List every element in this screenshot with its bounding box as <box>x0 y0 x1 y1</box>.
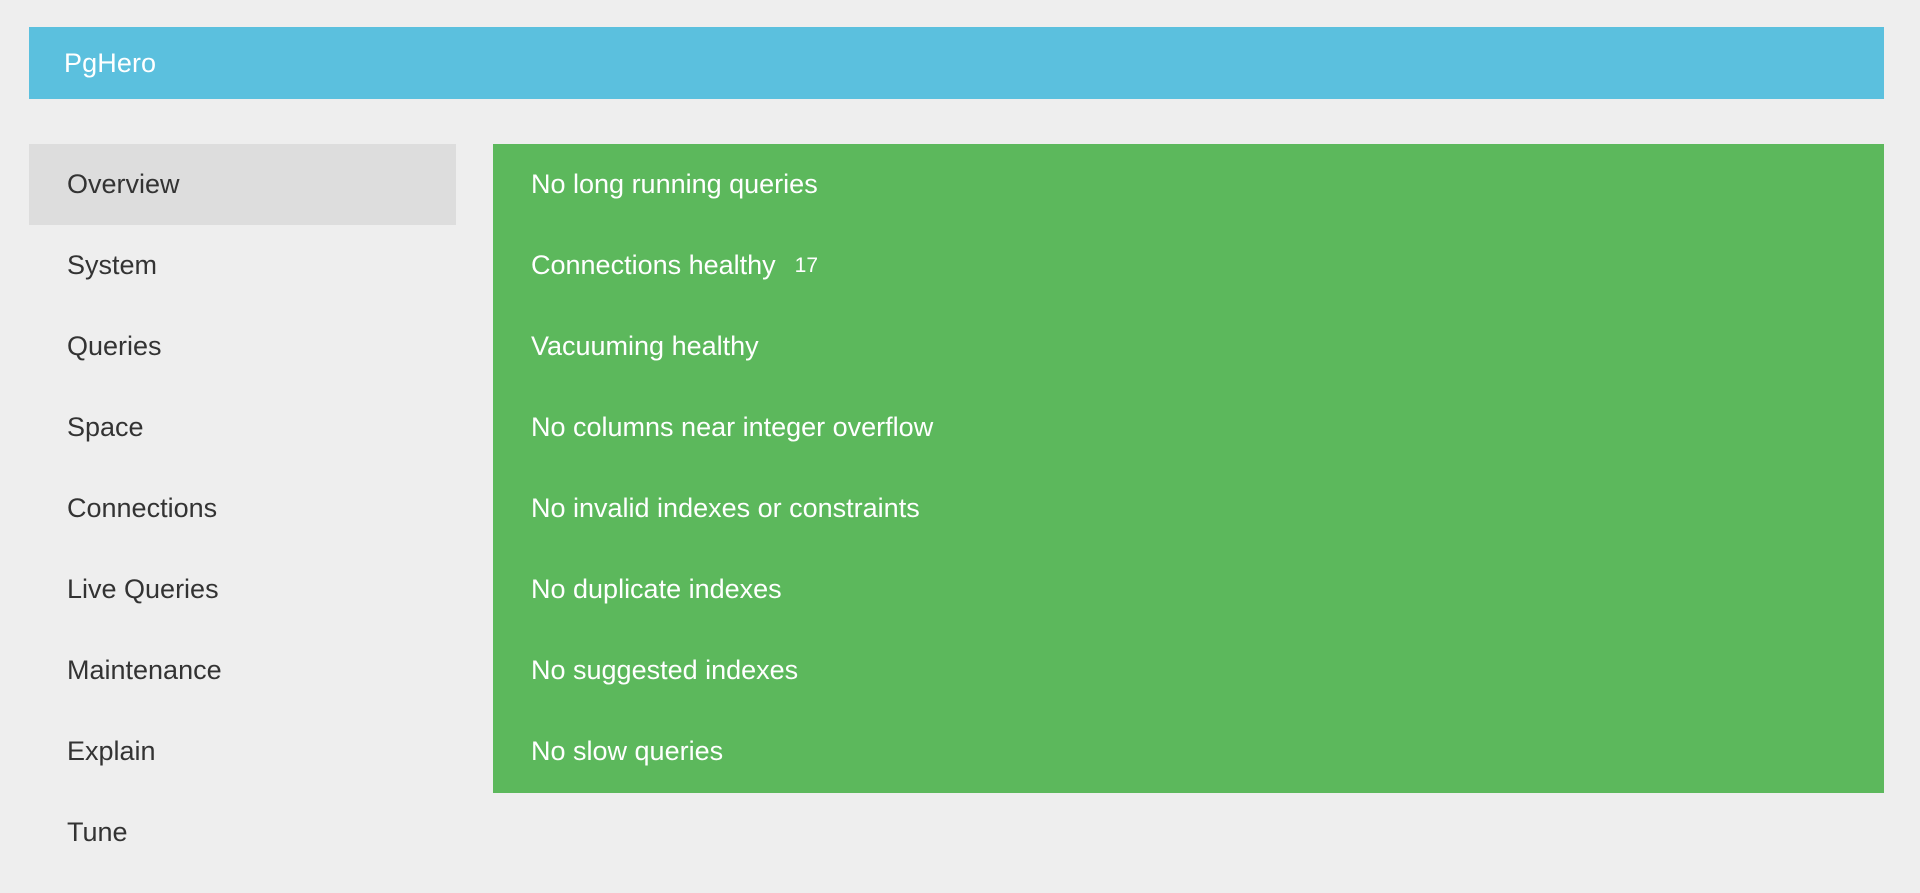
status-row[interactable]: No duplicate indexes <box>493 549 1884 630</box>
status-label: No invalid indexes or constraints <box>531 495 920 522</box>
status-row[interactable]: Vacuuming healthy <box>493 306 1884 387</box>
sidebar-item-system[interactable]: System <box>29 225 456 306</box>
status-row[interactable]: No suggested indexes <box>493 630 1884 711</box>
status-list: No long running queriesConnections healt… <box>493 144 1884 792</box>
sidebar-item-overview[interactable]: Overview <box>29 144 456 225</box>
sidebar-item-space[interactable]: Space <box>29 387 456 468</box>
sidebar-item-label: Overview <box>29 171 180 198</box>
sidebar-item-label: System <box>29 252 157 279</box>
sidebar-item-live-queries[interactable]: Live Queries <box>29 549 456 630</box>
status-row[interactable]: No invalid indexes or constraints <box>493 468 1884 549</box>
sidebar-item-label: Tune <box>29 819 128 846</box>
status-row[interactable]: No columns near integer overflow <box>493 387 1884 468</box>
status-row[interactable]: No long running queries <box>493 144 1884 225</box>
sidebar-item-explain[interactable]: Explain <box>29 711 456 792</box>
status-label: No suggested indexes <box>531 657 798 684</box>
status-row[interactable]: No slow queries <box>493 711 1884 792</box>
status-panel: No long running queriesConnections healt… <box>493 144 1884 793</box>
sidebar-item-label: Live Queries <box>29 576 219 603</box>
sidebar-item-label: Explain <box>29 738 156 765</box>
sidebar-item-connections[interactable]: Connections <box>29 468 456 549</box>
status-label: No slow queries <box>531 738 723 765</box>
sidebar-item-tune[interactable]: Tune <box>29 792 456 873</box>
navbar: PgHero <box>29 27 1884 99</box>
status-label: No long running queries <box>531 171 818 198</box>
status-label: No columns near integer overflow <box>531 414 933 441</box>
status-row[interactable]: Connections healthy17 <box>493 225 1884 306</box>
sidebar-item-queries[interactable]: Queries <box>29 306 456 387</box>
brand-logo[interactable]: PgHero <box>64 50 156 77</box>
sidebar-item-label: Maintenance <box>29 657 222 684</box>
sidebar-item-maintenance[interactable]: Maintenance <box>29 630 456 711</box>
sidebar-item-label: Connections <box>29 495 217 522</box>
status-label: No duplicate indexes <box>531 576 782 603</box>
sidebar-nav: OverviewSystemQueriesSpaceConnectionsLiv… <box>29 144 456 873</box>
status-badge: 17 <box>795 255 818 276</box>
pghero-dashboard: PgHero OverviewSystemQueriesSpaceConnect… <box>0 0 1920 893</box>
status-label: Vacuuming healthy <box>531 333 759 360</box>
sidebar-item-label: Space <box>29 414 144 441</box>
sidebar-item-label: Queries <box>29 333 162 360</box>
status-label: Connections healthy <box>531 252 776 279</box>
